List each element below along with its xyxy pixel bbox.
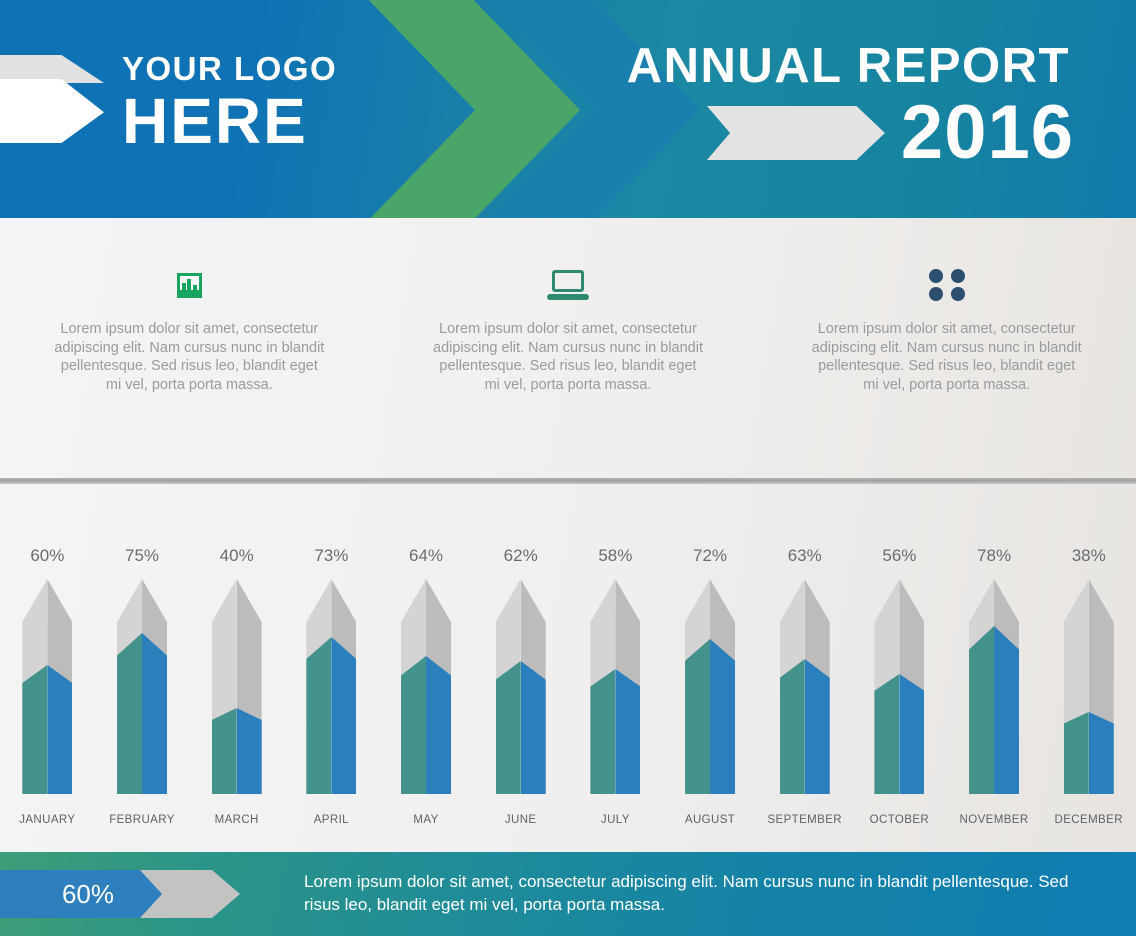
chevron-logo-mark-icon — [0, 55, 104, 143]
logo-mark-bottom — [0, 79, 104, 143]
bar-shape — [590, 579, 640, 794]
bar-fill-right-face — [237, 708, 262, 794]
bar-column: 56%OCTOBER — [852, 484, 947, 852]
bar-value-label: 62% — [473, 546, 568, 566]
bar-value-label: 72% — [663, 546, 758, 566]
bar-value-label: 64% — [379, 546, 474, 566]
laptop-icon — [547, 262, 589, 308]
bar-fill-left-face — [780, 659, 805, 794]
bar-column: 40%MARCH — [189, 484, 284, 852]
bar-shape — [874, 579, 924, 794]
bar-column: 38%DECEMBER — [1041, 484, 1136, 852]
feature-text-2: Lorem ipsum dolor sit amet, consectetur … — [433, 320, 703, 394]
bar-category-label: DECEMBER — [1041, 814, 1136, 826]
bar-category-label: APRIL — [284, 814, 379, 826]
bar-category-label: MARCH — [189, 814, 284, 826]
bar-fill-right-face — [47, 665, 72, 794]
bar-fill-right-face — [426, 656, 451, 794]
progress-label: 60% — [62, 879, 114, 910]
bar-fill-right-face — [710, 639, 735, 794]
bar-column: 75%FEBRUARY — [95, 484, 190, 852]
bar-shape — [22, 579, 72, 794]
feature-text-3: Lorem ipsum dolor sit amet, consectetur … — [812, 320, 1082, 394]
bar-shape — [496, 579, 546, 794]
bar-category-label: JANUARY — [0, 814, 95, 826]
bar-chart-icon — [177, 262, 202, 308]
arrow-banner-icon — [707, 106, 885, 160]
bar-value-label: 40% — [189, 546, 284, 566]
feature-column-2: Lorem ipsum dolor sit amet, consectetur … — [379, 218, 758, 478]
bar-shape — [969, 579, 1019, 794]
bar-value-label: 58% — [568, 546, 663, 566]
bar-column: 58%JULY — [568, 484, 663, 852]
footer-banner: 60% Lorem ipsum dolor sit amet, consecte… — [0, 852, 1136, 936]
bar-fill-left-face — [496, 661, 521, 794]
bar-shape — [780, 579, 830, 794]
bar-category-label: AUGUST — [663, 814, 758, 826]
bar-category-label: JULY — [568, 814, 663, 826]
logo-line-1: YOUR LOGO — [122, 52, 337, 86]
bar-column: 60%JANUARY — [0, 484, 95, 852]
bar-value-label: 60% — [0, 546, 95, 566]
bar-shape — [306, 579, 356, 794]
feature-column-3: Lorem ipsum dolor sit amet, consectetur … — [757, 218, 1136, 478]
bar-category-label: JUNE — [473, 814, 568, 826]
bar-fill-left-face — [969, 626, 994, 794]
bar-fill-left-face — [874, 674, 899, 794]
bar-fill-right-face — [615, 669, 640, 794]
bar-shape — [117, 579, 167, 794]
features-section: Lorem ipsum dolor sit amet, consectetur … — [0, 218, 1136, 478]
feature-column-1: Lorem ipsum dolor sit amet, consectetur … — [0, 218, 379, 478]
four-dots-icon — [929, 262, 965, 308]
report-title: ANNUAL REPORT — [627, 38, 1070, 94]
bar-column: 64%MAY — [379, 484, 474, 852]
bar-category-label: OCTOBER — [852, 814, 947, 826]
bar-category-label: SEPTEMBER — [757, 814, 852, 826]
footer-progress: 60% — [0, 870, 300, 918]
bar-fill-right-face — [521, 661, 546, 794]
infographic-page: YOUR LOGO HERE ANNUAL REPORT 2016 Lorem … — [0, 0, 1136, 936]
bar-fill-left-face — [590, 669, 615, 794]
bar-value-label: 75% — [95, 546, 190, 566]
bar-fill-left-face — [212, 708, 237, 794]
feature-text-1: Lorem ipsum dolor sit amet, consectetur … — [54, 320, 324, 394]
bar-fill-left-face — [22, 665, 47, 794]
bar-fill-left-face — [1064, 712, 1089, 794]
bar-shape — [401, 579, 451, 794]
bar-column: 72%AUGUST — [663, 484, 758, 852]
bar-column: 62%JUNE — [473, 484, 568, 852]
bar-fill-right-face — [331, 637, 356, 794]
header-banner: YOUR LOGO HERE ANNUAL REPORT 2016 — [0, 0, 1136, 218]
bar-value-label: 38% — [1041, 546, 1136, 566]
bar-shape — [685, 579, 735, 794]
logo-text-block: YOUR LOGO HERE — [122, 52, 337, 154]
bar-fill-left-face — [685, 639, 710, 794]
bar-column: 63%SEPTEMBER — [757, 484, 852, 852]
bar-fill-right-face — [994, 626, 1019, 794]
bar-value-label: 73% — [284, 546, 379, 566]
bar-category-label: MAY — [379, 814, 474, 826]
year-row: 2016 — [707, 98, 1074, 168]
bar-fill-left-face — [306, 637, 331, 794]
bar-column: 73%APRIL — [284, 484, 379, 852]
bar-fill-left-face — [117, 633, 142, 794]
bar-list: 60%JANUARY75%FEBRUARY40%MARCH73%APRIL64%… — [0, 484, 1136, 852]
bar-value-label: 78% — [947, 546, 1042, 566]
bar-value-label: 56% — [852, 546, 947, 566]
bar-fill-right-face — [899, 674, 924, 794]
bar-shape — [212, 579, 262, 794]
bar-column: 78%NOVEMBER — [947, 484, 1042, 852]
logo-line-2: HERE — [122, 88, 337, 154]
logo-mark-top — [0, 55, 104, 83]
bar-fill-left-face — [401, 656, 426, 794]
footer-text: Lorem ipsum dolor sit amet, consectetur … — [304, 870, 1084, 916]
bar-category-label: NOVEMBER — [947, 814, 1042, 826]
bar-shape — [1064, 579, 1114, 794]
report-year: 2016 — [901, 98, 1074, 168]
monthly-bar-chart: 60%JANUARY75%FEBRUARY40%MARCH73%APRIL64%… — [0, 484, 1136, 852]
bar-fill-right-face — [1089, 712, 1114, 794]
bar-fill-right-face — [142, 633, 167, 794]
bar-fill-right-face — [805, 659, 830, 794]
bar-value-label: 63% — [757, 546, 852, 566]
bar-category-label: FEBRUARY — [95, 814, 190, 826]
